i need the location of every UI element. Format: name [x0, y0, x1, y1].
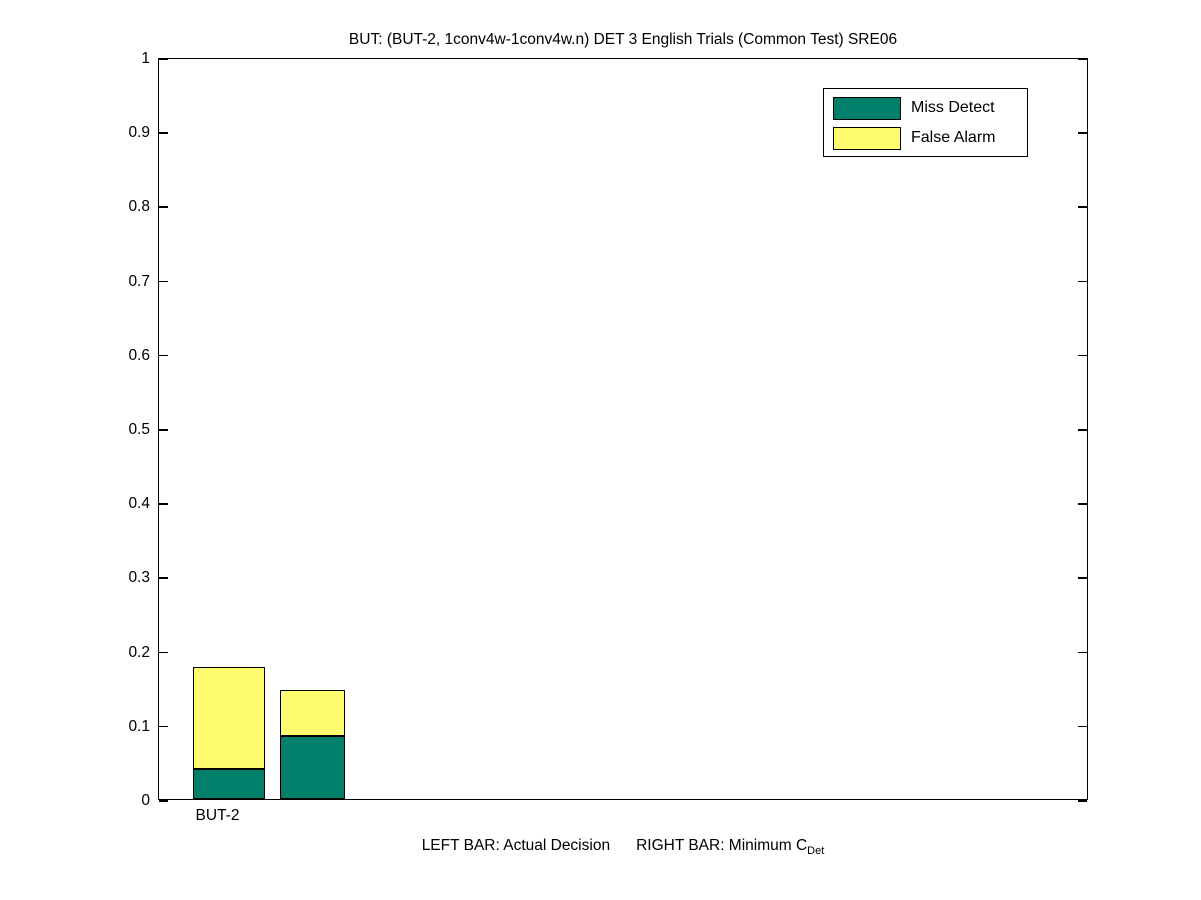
y-tick-label: 0.5 [128, 419, 150, 440]
bar-segment-false-alarm[interactable] [193, 667, 265, 769]
x-axis-caption: LEFT BAR: Actual DecisionRIGHT BAR: Mini… [158, 836, 1088, 857]
y-tick-label: 0.9 [128, 122, 150, 143]
caption-left-bar: LEFT BAR: Actual Decision [422, 837, 610, 854]
y-tick-label: 0.4 [128, 493, 150, 514]
y-tick-mark-right [1078, 652, 1087, 654]
bar-minimum-cdet[interactable] [280, 57, 345, 799]
legend-label-miss-detect: Miss Detect [911, 95, 995, 120]
y-tick-label: 1 [141, 48, 150, 69]
y-tick-mark [159, 652, 168, 654]
caption-right-bar: RIGHT BAR: Minimum C [636, 837, 807, 854]
y-tick-mark [159, 355, 168, 357]
y-tick-mark [159, 800, 168, 802]
y-tick-mark [159, 577, 168, 579]
y-tick-mark-right [1078, 503, 1087, 505]
y-tick-mark-right [1078, 132, 1087, 134]
bar-segment-miss-detect[interactable] [280, 736, 345, 799]
caption-right-bar-subscript: Det [807, 845, 824, 857]
y-tick-label: 0.1 [128, 716, 150, 737]
bar-segment-miss-detect[interactable] [193, 769, 265, 799]
plot-area: 0 0.1 0.2 0.3 0.4 0.5 [158, 58, 1088, 800]
y-tick-mark [159, 132, 168, 134]
y-tick-mark-right [1078, 281, 1087, 283]
bar-segment-false-alarm[interactable] [280, 690, 345, 736]
y-tick-mark [159, 503, 168, 505]
legend-swatch-miss-detect [833, 97, 901, 120]
y-tick-mark [159, 58, 168, 60]
y-tick-mark-right [1078, 58, 1087, 60]
chart-title: BUT: (BUT-2, 1conv4w-1conv4w.n) DET 3 En… [158, 31, 1088, 49]
bar-actual-decision[interactable] [193, 57, 265, 799]
legend: Miss Detect False Alarm [823, 88, 1028, 157]
y-tick-mark [159, 281, 168, 283]
x-tick-label-but-2: BUT-2 [160, 806, 275, 826]
y-tick-mark-right [1078, 726, 1087, 728]
y-tick-mark-right [1078, 206, 1087, 208]
legend-swatch-false-alarm [833, 127, 901, 150]
y-tick-label: 0.2 [128, 642, 150, 663]
y-tick-label: 0.8 [128, 196, 150, 217]
y-tick-label: 0 [141, 790, 150, 811]
legend-label-false-alarm: False Alarm [911, 125, 995, 150]
y-tick-mark [159, 726, 168, 728]
y-tick-mark [159, 429, 168, 431]
figure-canvas: BUT: (BUT-2, 1conv4w-1conv4w.n) DET 3 En… [0, 0, 1201, 900]
y-tick-label: 0.7 [128, 271, 150, 292]
y-tick-label: 0.3 [128, 567, 150, 588]
y-tick-mark-right [1078, 429, 1087, 431]
y-tick-label: 0.6 [128, 345, 150, 366]
y-tick-mark [159, 206, 168, 208]
y-tick-mark-right [1078, 800, 1087, 802]
y-tick-mark-right [1078, 577, 1087, 579]
y-tick-mark-right [1078, 355, 1087, 357]
